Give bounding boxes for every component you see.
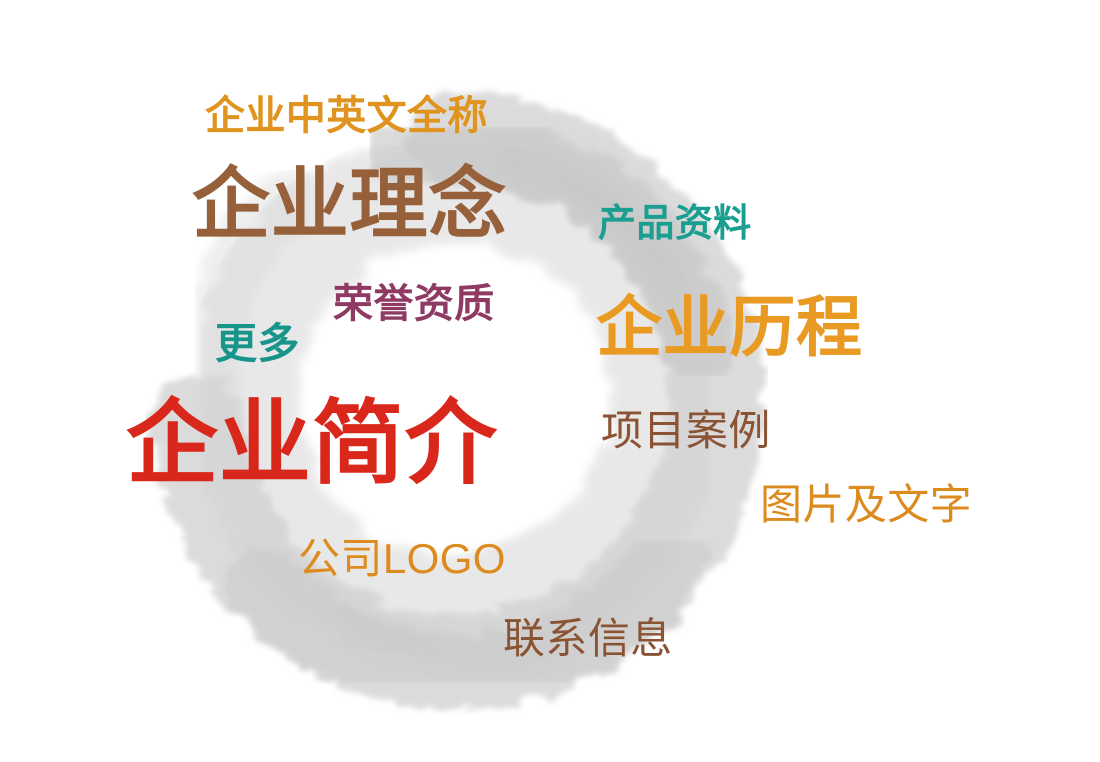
word-company-introduction[interactable]: 企业简介 [126,398,498,490]
word-more[interactable]: 更多 [215,323,300,365]
word-company-philosophy[interactable]: 企业理念 [192,165,507,243]
word-images-and-text[interactable]: 图片及文字 [760,484,972,526]
word-company-history[interactable]: 企业历程 [596,294,863,360]
word-company-full-name[interactable]: 企业中英文全称 [205,96,488,136]
word-product-materials[interactable]: 产品资料 [598,205,752,243]
word-honors-qualifications[interactable]: 荣誉资质 [333,284,495,324]
word-contact-information[interactable]: 联系信息 [503,618,673,660]
word-company-logo[interactable]: 公司LOGO [298,538,506,580]
word-project-cases[interactable]: 项目案例 [601,410,771,452]
wordcloud-canvas: 企业中英文全称 企业理念 产品资料 荣誉资质 企业历程 更多 企业简介 项目案例… [0,0,1100,762]
